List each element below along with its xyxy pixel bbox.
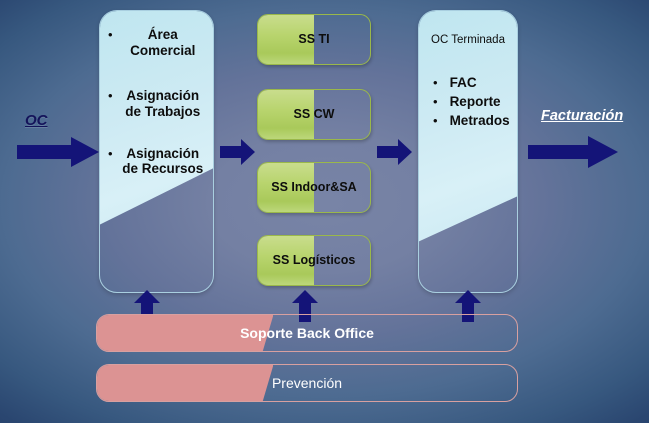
diagram-canvas: OC • Área Comercial • Asignación de Trab… [0,0,649,423]
bullet-icon: • [433,94,438,110]
bullet-icon: • [433,113,438,129]
list-item: • Asignación de Recursos [100,146,213,177]
list-item-label: FAC [444,75,511,91]
flow-arrow-1-icon [220,139,255,165]
chip-label: SS TI [258,15,370,64]
list-item: • Área Comercial [100,27,213,58]
output-arrow-icon [528,136,618,168]
pillar-right-content: OC Terminada • FAC • Reporte • Metrados [419,11,517,292]
list-item-label: Asignación de Recursos [119,146,207,177]
bullet-icon: • [108,88,113,104]
flow-arrow-2-icon [377,139,412,165]
pillar-right-heading: OC Terminada [419,33,517,47]
chip-label: SS CW [258,90,370,139]
list-item: • Metrados [419,113,517,129]
bullet-icon: • [108,146,113,162]
chip-ss-ti[interactable]: SS TI [257,14,371,65]
output-flow-label: Facturación [541,108,623,124]
list-item-label: Área Comercial [119,27,207,58]
input-flow-label: OC [25,112,48,129]
pillar-oc-terminada[interactable]: OC Terminada • FAC • Reporte • Metrados [418,10,518,293]
input-arrow-icon [17,137,99,167]
list-item-label: Metrados [444,113,511,129]
list-item-label: Asignación de Trabajos [119,88,207,119]
list-item-label: Reporte [444,94,511,110]
chip-ss-logisticos[interactable]: SS Logísticos [257,235,371,286]
support-bar-label: Prevención [97,365,517,401]
pillar-left-content: • Área Comercial • Asignación de Trabajo… [100,11,213,292]
list-item: • Reporte [419,94,517,110]
support-bar-soporte-back-office[interactable]: Soporte Back Office [96,314,518,352]
list-item: • FAC [419,75,517,91]
chip-label: SS Logísticos [258,236,370,285]
pillar-area-comercial[interactable]: • Área Comercial • Asignación de Trabajo… [99,10,214,293]
list-item: • Asignación de Trabajos [100,88,213,119]
chip-ss-indoor-sa[interactable]: SS Indoor&SA [257,162,371,213]
bullet-icon: • [433,75,438,91]
chip-label: SS Indoor&SA [258,163,370,212]
chip-ss-cw[interactable]: SS CW [257,89,371,140]
support-bar-prevencion[interactable]: Prevención [96,364,518,402]
bullet-icon: • [108,27,113,43]
support-bar-label: Soporte Back Office [97,315,517,351]
